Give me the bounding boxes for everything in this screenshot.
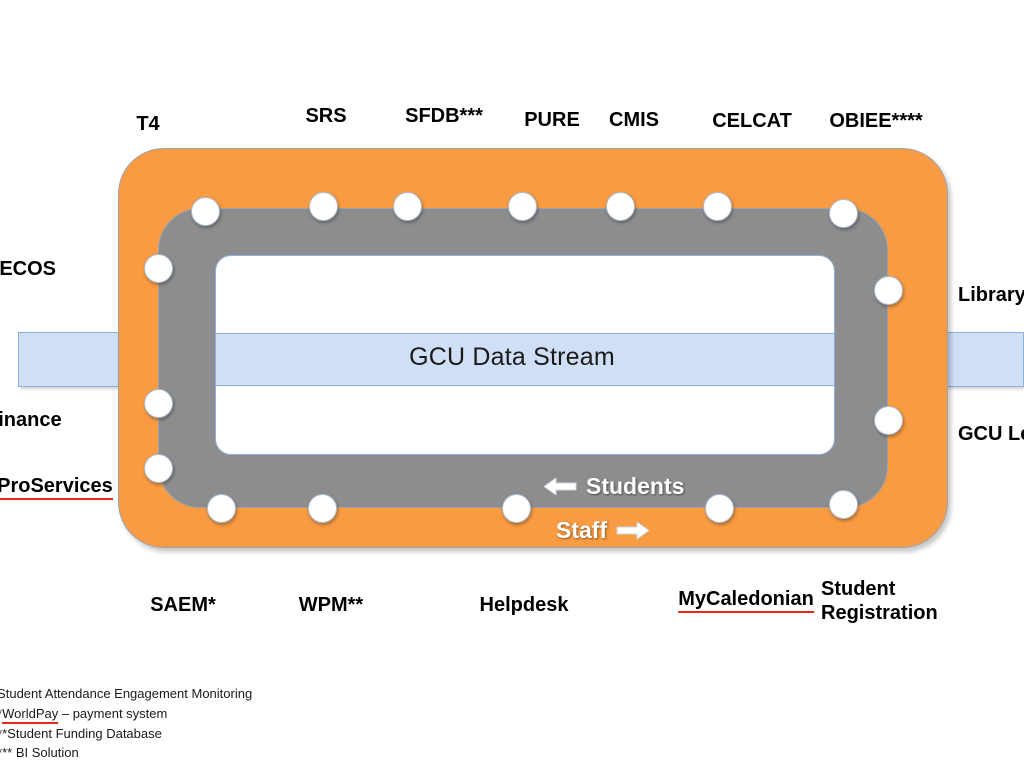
right-label-gcu-learn[interactable]: GCU Learn (958, 423, 1024, 446)
label-text: Helpdesk (480, 594, 569, 616)
footnote-prefix: *Student Attendance Engagement Monitorin… (0, 686, 252, 701)
top-label-sfdb[interactable]: SFDB*** (405, 105, 483, 128)
bottom-label-student-registration[interactable]: Student Registration (821, 578, 971, 625)
label-text: Library (958, 284, 1024, 306)
label-text: Finance (0, 409, 62, 431)
label-text: PECOS (0, 258, 56, 280)
flow-label-staff: Staff (556, 517, 650, 544)
top-label-pure[interactable]: PURE (524, 109, 580, 132)
top-label-cmis[interactable]: CMIS (609, 109, 659, 132)
left-label-finance[interactable]: Finance (0, 409, 62, 432)
bottom-label-saem[interactable]: SAEM* (150, 594, 216, 617)
node-student-registration[interactable] (829, 490, 858, 519)
bottom-label-wpm[interactable]: WPM** (299, 594, 363, 617)
footnote-suffix: – payment system (58, 706, 167, 721)
diagram-canvas: GCU Data Stream T4SRSSFDB***PURECMISCELC… (0, 0, 1024, 768)
node-pecos[interactable] (144, 254, 173, 283)
gcu-data-stream-label: GCU Data Stream (0, 343, 1024, 372)
flow-label-text: Staff (556, 517, 607, 544)
node-srs[interactable] (309, 192, 338, 221)
right-label-library[interactable]: Library (958, 284, 1024, 307)
label-text: T4 (136, 113, 159, 135)
footnote-prefix: ***Student Funding Database (0, 726, 162, 741)
label-text: MyCaledonian (678, 588, 814, 613)
node-eproservices[interactable] (144, 454, 173, 483)
footnote-misspelled-word: WorldPay (2, 706, 58, 724)
bottom-label-helpdesk[interactable]: Helpdesk (480, 594, 569, 617)
arrow-right-icon (616, 521, 650, 540)
label-text: SRS (305, 105, 346, 127)
arrow-left-icon (543, 477, 577, 496)
flow-label-text: Students (586, 473, 684, 500)
label-text: CMIS (609, 109, 659, 131)
footnotes-block: *Student Attendance Engagement Monitorin… (0, 684, 252, 763)
footnote-prefix: **** BI Solution (0, 745, 79, 760)
node-t4[interactable] (191, 197, 220, 226)
left-label-pecos[interactable]: PECOS (0, 258, 56, 281)
footnote-1: *Student Attendance Engagement Monitorin… (0, 684, 252, 704)
label-text: WPM** (299, 594, 363, 616)
label-text: CELCAT (712, 110, 792, 132)
footnote-4: **** BI Solution (0, 743, 252, 763)
top-label-srs[interactable]: SRS (305, 105, 346, 128)
node-finance[interactable] (144, 389, 173, 418)
label-text: eProServices (0, 475, 113, 500)
left-label-eproservices[interactable]: eProServices (0, 475, 113, 498)
label-text: SFDB*** (405, 105, 483, 127)
node-helpdesk[interactable] (502, 494, 531, 523)
node-mycaledonian[interactable] (705, 494, 734, 523)
top-label-t4[interactable]: T4 (136, 113, 159, 136)
footnote-2: **WorldPay – payment system (0, 704, 252, 724)
label-text: PURE (524, 109, 580, 131)
node-wpm[interactable] (308, 494, 337, 523)
node-celcat[interactable] (703, 192, 732, 221)
top-label-celcat[interactable]: CELCAT (712, 110, 792, 133)
node-pure[interactable] (508, 192, 537, 221)
top-label-obiee[interactable]: OBIEE**** (829, 110, 922, 133)
bottom-label-mycaledonian[interactable]: MyCaledonian (678, 588, 814, 611)
node-saem[interactable] (207, 494, 236, 523)
node-obiee[interactable] (829, 199, 858, 228)
label-text: SAEM* (150, 594, 216, 616)
node-library[interactable] (874, 276, 903, 305)
label-text: GCU Learn (958, 423, 1024, 445)
footnote-3: ***Student Funding Database (0, 724, 252, 744)
node-cmis[interactable] (606, 192, 635, 221)
flow-label-students: Students (543, 473, 684, 500)
label-text: OBIEE**** (829, 110, 922, 132)
label-text: Student Registration (821, 578, 938, 624)
node-sfdb[interactable] (393, 192, 422, 221)
node-gcu-learn[interactable] (874, 406, 903, 435)
